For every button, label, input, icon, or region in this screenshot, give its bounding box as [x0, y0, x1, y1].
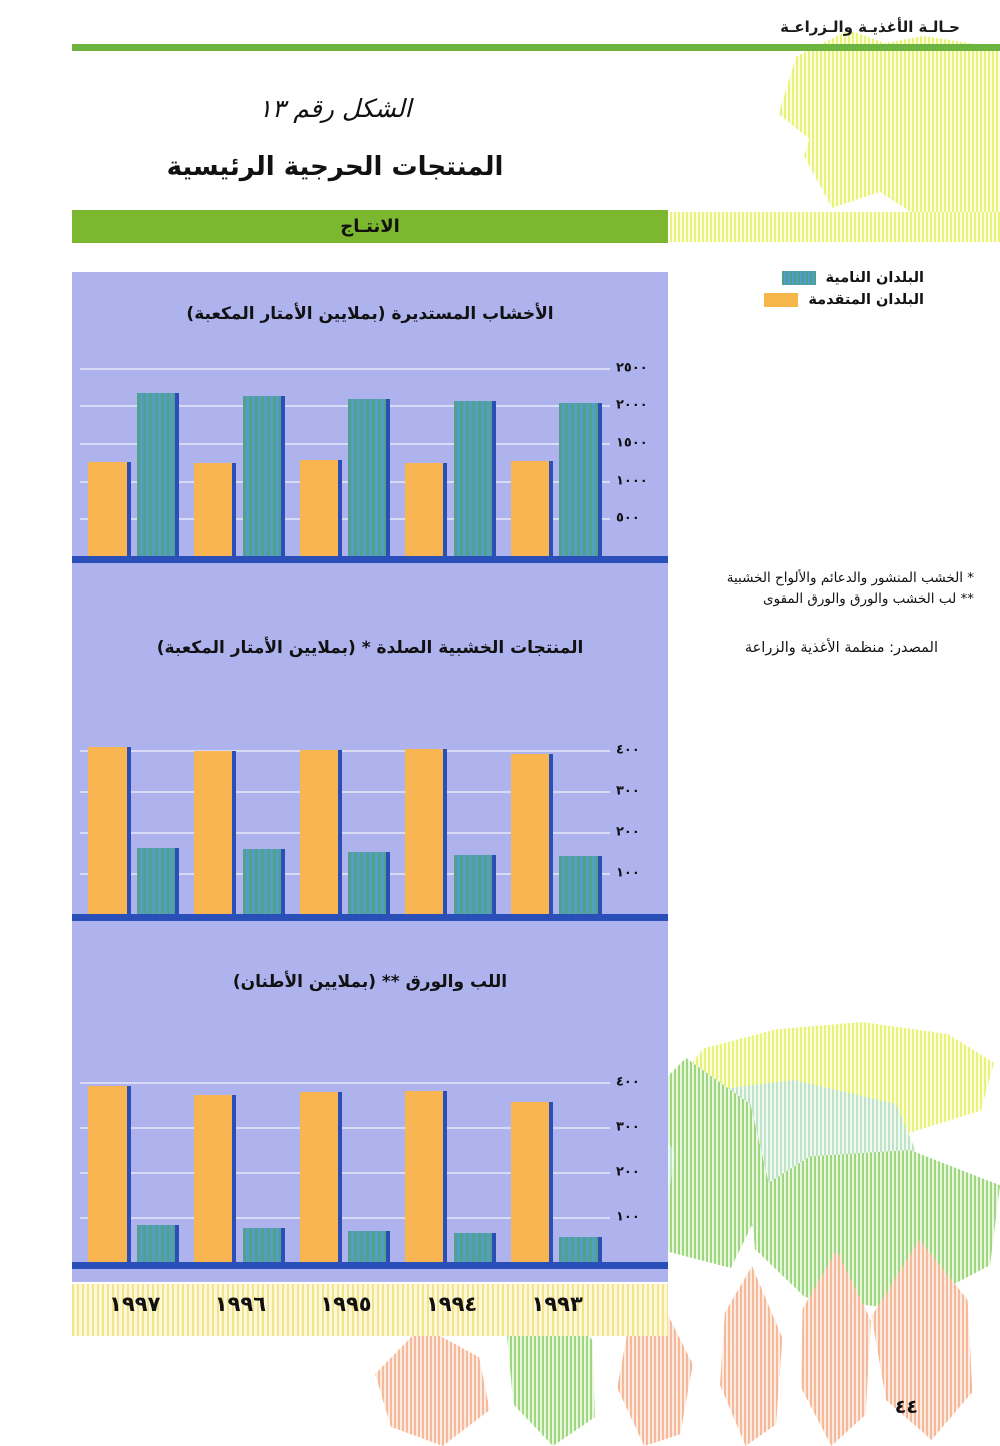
legend-swatch-developed [764, 293, 798, 307]
y-axis-tick-label: ١٠٠ [616, 866, 668, 881]
decorative-leaf-bottom-3 [750, 1150, 1000, 1310]
bar-developing [243, 1228, 285, 1262]
bar-developing [454, 855, 496, 914]
bar-developed [300, 1092, 342, 1262]
production-banner: الانتـاج [72, 210, 668, 243]
axis-baseline-3 [72, 1262, 668, 1269]
bar-developed [405, 463, 447, 556]
axis-baseline-1 [72, 556, 668, 563]
bar-developing [137, 1225, 179, 1262]
gridline [80, 750, 610, 752]
bar-developing [559, 856, 601, 914]
decorative-band-right [670, 212, 1000, 242]
bar-developing [137, 393, 179, 556]
chart-source: المصدر: منظمة الأغذية والزراعة [668, 640, 986, 656]
legend-item-developed: البلدان المتقدمة [764, 292, 924, 308]
axis-baseline-2 [72, 914, 668, 921]
bar-developed [511, 754, 553, 914]
chart-legend: البلدان النامية البلدان المتقدمة [676, 270, 996, 308]
bar-developing [454, 1233, 496, 1262]
legend-label-developed: البلدان المتقدمة [808, 292, 924, 308]
panel-title-2: المنتجات الخشبية الصلدة * (بملايين الأمت… [72, 638, 668, 658]
decorative-leaf-bottom-7 [712, 1266, 792, 1446]
y-axis-tick-label: ٢٥٠٠ [616, 360, 668, 375]
y-axis-tick-label: ٤٠٠ [616, 1075, 668, 1090]
footnote-double-asterisk: ** لب الخشب والورق والورق المقوى [668, 589, 974, 610]
decorative-leaf-bottom-6 [790, 1250, 880, 1446]
bar-developed [511, 461, 553, 556]
y-axis-tick-label: ١٠٠٠ [616, 473, 668, 488]
bar-developing [559, 1237, 601, 1262]
bar-developed [300, 460, 342, 556]
bar-developing [454, 401, 496, 556]
y-axis-tick-label: ٢٠٠ [616, 825, 668, 840]
year-axis-band: ١٩٩٧١٩٩٦١٩٩٥١٩٩٤١٩٩٣ [72, 1284, 668, 1336]
y-axis-tick-label: ١٠٠ [616, 1210, 668, 1225]
panel-title-3: اللب والورق ** (بملايين الأطنان) [72, 972, 668, 992]
year-label: ١٩٩٥ [293, 1292, 399, 1316]
figure-number: الشكل رقم ١٣ [0, 94, 1000, 123]
legend-label-developing: البلدان النامية [826, 270, 925, 286]
bar-developed [194, 751, 236, 914]
bar-developed [405, 749, 447, 914]
year-label: ١٩٩٧ [82, 1292, 188, 1316]
bar-developed [194, 463, 236, 556]
bar-developed [88, 462, 130, 556]
year-label: ١٩٩٣ [504, 1292, 610, 1316]
plot-area-3: ٤٠٠٣٠٠٢٠٠١٠٠ [72, 1064, 668, 1262]
decorative-leaf-bottom-5 [862, 1240, 982, 1440]
bar-developing [348, 1231, 390, 1263]
y-axis-tick-label: ٢٠٠٠ [616, 398, 668, 413]
gridline [80, 368, 610, 370]
gridline [80, 1082, 610, 1084]
legend-item-developing: البلدان النامية [782, 270, 925, 286]
y-axis-tick-label: ٤٠٠ [616, 743, 668, 758]
page-number: ٤٤ [895, 1396, 918, 1418]
bar-developed [88, 747, 130, 914]
chart-container: الأخشاب المستديرة (بملايين الأمتار المكع… [72, 272, 668, 1282]
page-header-title: حـالـة الأغذيـة والـزراعـة [780, 18, 960, 36]
figure-number-text: الشكل رقم ١٣ [258, 94, 741, 123]
bar-developing [137, 848, 179, 914]
bar-developed [405, 1091, 447, 1262]
y-axis-tick-label: ٣٠٠ [616, 784, 668, 799]
year-label: ١٩٩٤ [399, 1292, 505, 1316]
decorative-leaf-bottom-1 [664, 1022, 994, 1142]
bar-developing [348, 852, 390, 914]
bar-developing [348, 399, 390, 556]
bar-developed [88, 1086, 130, 1262]
chart-footnotes: * الخشب المنشور والدعائم والألواح الخشبي… [668, 568, 986, 610]
header-divider [72, 44, 1000, 51]
y-axis-tick-label: ٥٠٠ [616, 511, 668, 526]
bar-developing [243, 849, 285, 914]
bar-developed [511, 1102, 553, 1262]
plot-area-2: ٤٠٠٣٠٠٢٠٠١٠٠ [72, 734, 668, 914]
legend-swatch-developing [782, 271, 816, 285]
y-axis-tick-label: ٣٠٠ [616, 1120, 668, 1135]
decorative-leaf-top-right [800, 36, 1000, 236]
plot-area-1: ٢٥٠٠٢٠٠٠١٥٠٠١٠٠٠٥٠٠ [72, 360, 668, 556]
panel-title-1: الأخشاب المستديرة (بملايين الأمتار المكع… [72, 304, 668, 324]
page-title: المنتجات الحرجية الرئيسية [0, 152, 1000, 182]
footnote-single-asterisk: * الخشب المنشور والدعائم والألواح الخشبي… [668, 568, 974, 589]
bar-developed [300, 750, 342, 914]
year-label: ١٩٩٦ [188, 1292, 294, 1316]
bar-developing [559, 403, 601, 556]
bar-developing [243, 396, 285, 556]
decorative-leaf-bottom-10 [370, 1326, 500, 1446]
bar-developed [194, 1095, 236, 1262]
figure-title-text: المنتجات الحرجية الرئيسية [167, 152, 834, 182]
y-axis-tick-label: ٢٠٠ [616, 1165, 668, 1180]
y-axis-tick-label: ١٥٠٠ [616, 435, 668, 450]
